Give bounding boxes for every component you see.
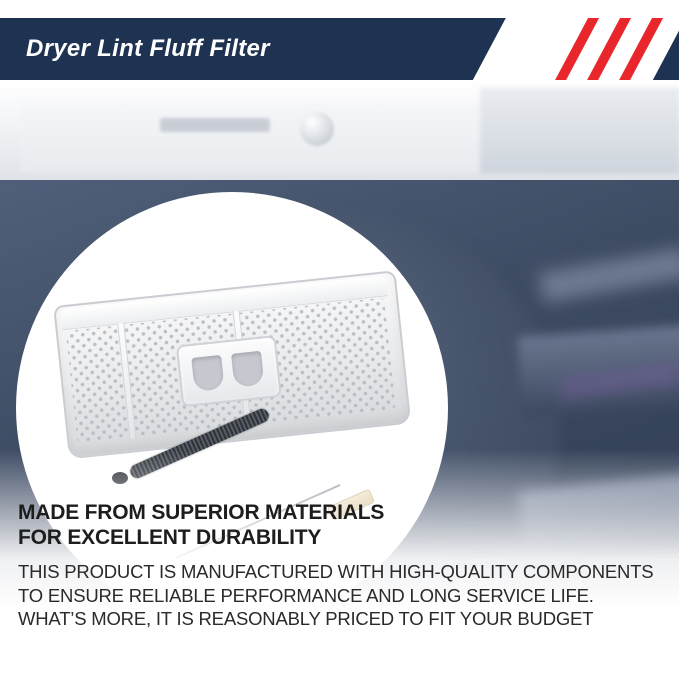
lint-filter-handle-slot-left	[191, 355, 224, 392]
lint-filter-handle-slot-right	[231, 351, 264, 388]
copy-headline: MADE FROM SUPERIOR MATERIALS FOR EXCELLE…	[18, 501, 664, 551]
marketing-copy: MADE FROM SUPERIOR MATERIALS FOR EXCELLE…	[18, 501, 664, 631]
background-display-screen	[160, 118, 270, 132]
background-dryer-top	[0, 80, 679, 180]
copy-headline-line-2: FOR EXCELLENT DURABILITY	[18, 526, 664, 551]
product-photo: MADE FROM SUPERIOR MATERIALS FOR EXCELLE…	[0, 80, 679, 679]
copy-headline-line-1: MADE FROM SUPERIOR MATERIALS	[18, 501, 664, 526]
header-bar: Dryer Lint Fluff Filter	[0, 18, 679, 80]
background-right-appliance	[480, 88, 679, 174]
product-poster: Dryer Lint Fluff Filter	[0, 0, 679, 679]
page-title: Dryer Lint Fluff Filter	[26, 35, 270, 63]
copy-body-line-2: TO ENSURE RELIABLE PERFORMANCE AND LONG …	[18, 584, 664, 608]
background-control-knob	[300, 112, 334, 146]
copy-body-line-1: THIS PRODUCT IS MANUFACTURED WITH HIGH-Q…	[18, 560, 664, 584]
background-control-panel	[20, 102, 540, 172]
copy-body-line-3: WHAT’S MORE, IT IS REASONABLY PRICED TO …	[18, 607, 664, 631]
header-stripe-group	[515, 18, 675, 80]
copy-body: THIS PRODUCT IS MANUFACTURED WITH HIGH-Q…	[18, 560, 664, 631]
